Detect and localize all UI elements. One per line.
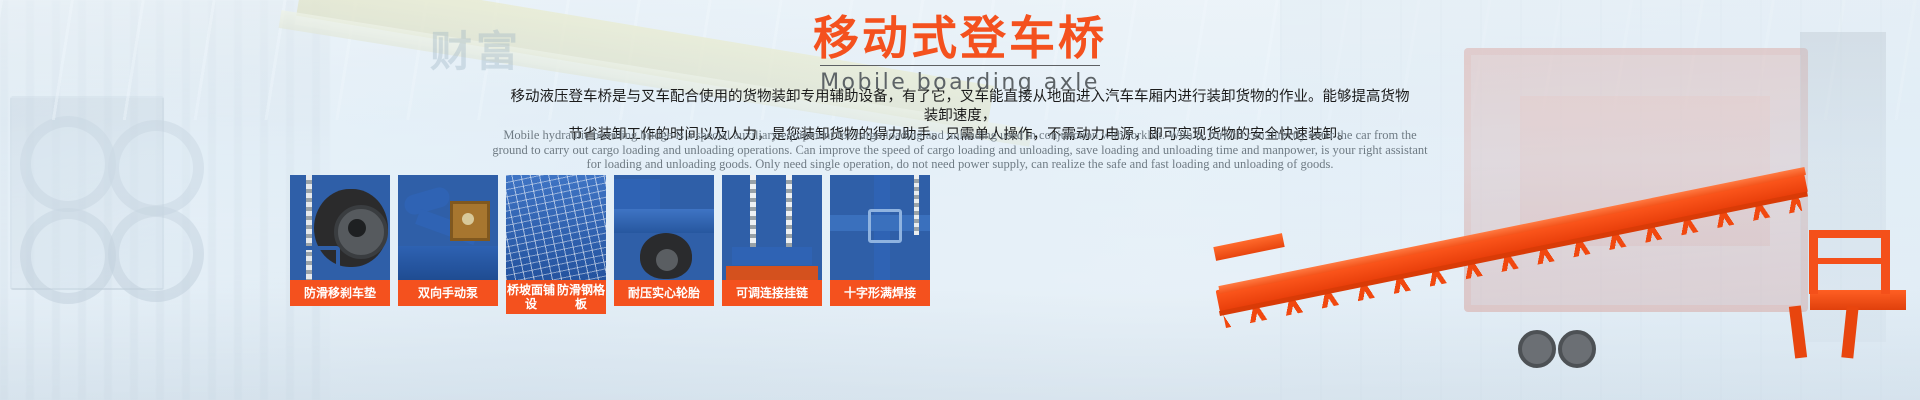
feature-caption: 双向手动泵: [398, 280, 498, 306]
feature-item[interactable]: 桥坡面铺设 防滑钢格板: [506, 175, 606, 314]
grating-pattern: [506, 175, 606, 280]
feature-caption-line-2: 防滑钢格板: [556, 283, 606, 311]
feature-item[interactable]: 十字形满焊接: [830, 175, 930, 314]
beam-shape: [614, 209, 714, 233]
product-banner: 财富 移动式登车桥 Mobile boarding axle 移动液压登车桥是与…: [0, 0, 1920, 400]
brake-pad-shape: [290, 246, 340, 280]
description-english: Mobile hydraulic boarding bridge is a sp…: [490, 128, 1430, 172]
pump-base-shape: [398, 246, 498, 280]
feature-caption: 桥坡面铺设 防滑钢格板: [506, 280, 606, 314]
feature-item[interactable]: 耐压实心轮胎: [614, 175, 714, 314]
ramp-lip: [1213, 233, 1284, 261]
bolt-shape: [462, 213, 474, 225]
feature-caption: 防滑移刹车垫: [290, 280, 390, 306]
feature-photo-brake-pad: [290, 175, 390, 280]
feature-item[interactable]: 可调连接挂链: [722, 175, 822, 314]
feature-caption: 可调连接挂链: [722, 280, 822, 306]
description-chinese-line-1: 移动液压登车桥是与叉车配合使用的货物装卸专用辅助设备，有了它，叉车能直接从地面进…: [510, 88, 1410, 126]
ramp-side-rail: [1219, 191, 1808, 316]
feature-photo-adjustable-chain: [722, 175, 822, 280]
ramp-support-leg: [1789, 305, 1807, 358]
feature-photo-cross-weld: [830, 175, 930, 280]
ramp-guardrail-bar: [1809, 230, 1890, 238]
feature-caption: 耐压实心轮胎: [614, 280, 714, 306]
ramp-wheel: [1518, 330, 1556, 368]
weld-joint-shape: [868, 209, 902, 243]
feature-caption-line-1: 桥坡面铺设: [506, 283, 556, 311]
chain-icon: [786, 175, 792, 249]
orange-strip-shape: [726, 266, 818, 280]
feature-item[interactable]: 防滑移刹车垫: [290, 175, 390, 314]
rim-shape: [656, 249, 678, 271]
feature-caption: 十字形满焊接: [830, 280, 930, 306]
hub-shape: [348, 219, 366, 237]
ramp-guardrail-bar: [1809, 258, 1890, 264]
ramp-wheel: [1558, 330, 1596, 368]
frame-shape: [614, 179, 660, 209]
feature-photo-hand-pump: [398, 175, 498, 280]
chain-icon: [750, 175, 756, 257]
feature-photo-steel-grating: [506, 175, 606, 280]
product-ramp-image: [1220, 172, 1900, 372]
page-title: 移动式登车桥: [0, 14, 1920, 62]
feature-photo-solid-tyre: [614, 175, 714, 280]
ramp-support-leg: [1841, 306, 1858, 359]
feature-strip: 防滑移刹车垫 双向手动泵 桥坡面铺设 防滑钢格板: [290, 175, 930, 314]
chain-icon: [914, 175, 919, 235]
ramp-deck-surface: [1218, 167, 1806, 294]
banner-heading: 移动式登车桥 Mobile boarding axle: [0, 14, 1920, 95]
feature-item[interactable]: 双向手动泵: [398, 175, 498, 314]
connector-plate-shape: [732, 247, 812, 265]
